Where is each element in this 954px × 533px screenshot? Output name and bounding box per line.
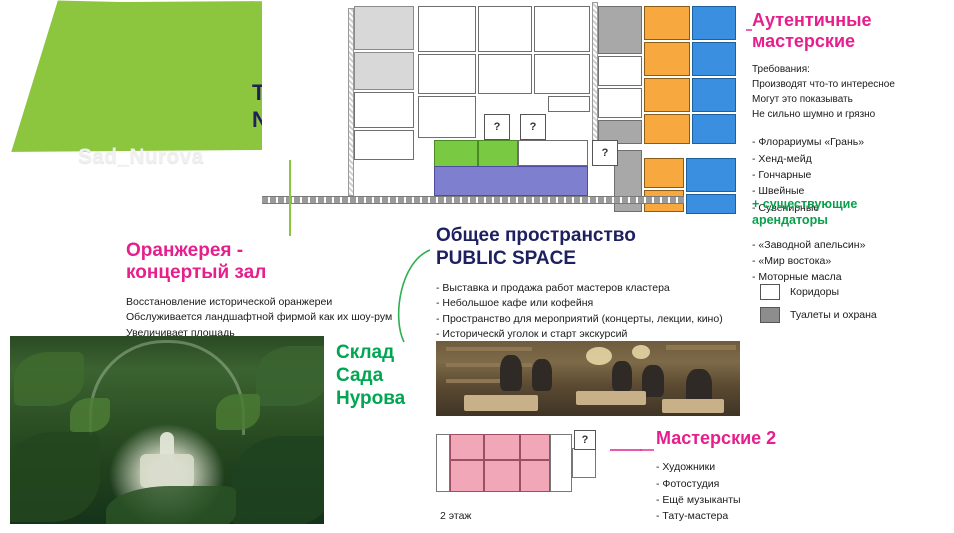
- connector-sklad-to-plan: [399, 250, 430, 342]
- connector-lines: [0, 0, 954, 533]
